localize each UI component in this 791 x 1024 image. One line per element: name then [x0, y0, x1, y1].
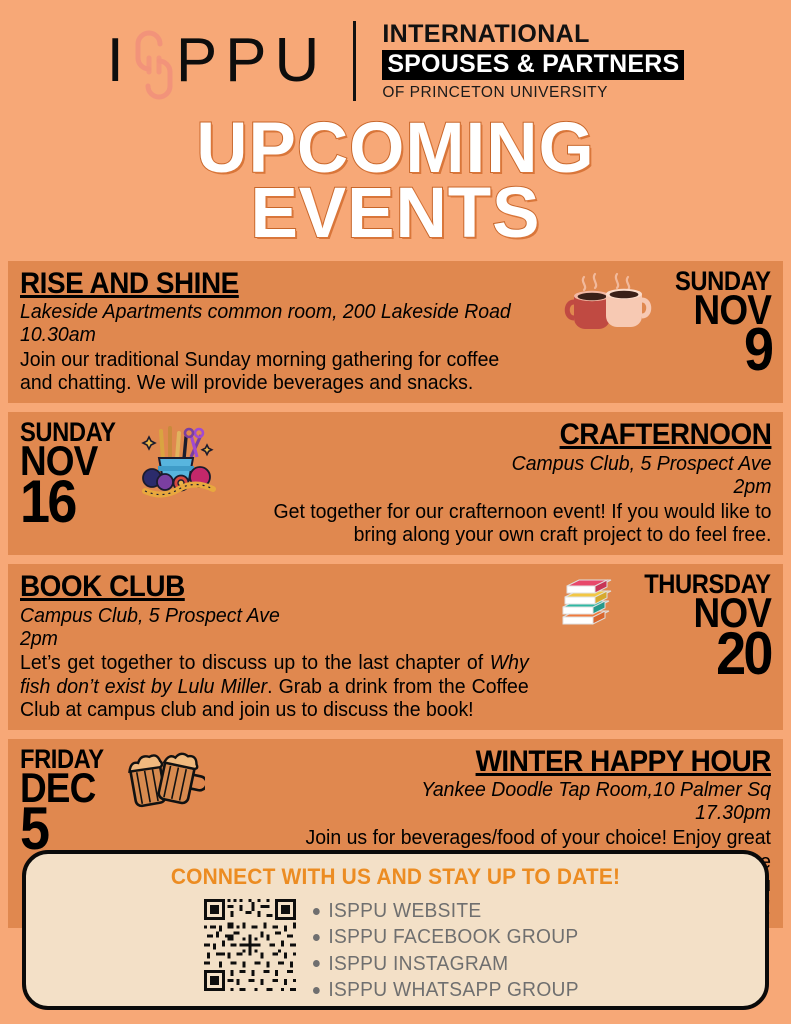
link-item-instagram[interactable]: ISPPU INSTAGRAM: [313, 951, 579, 977]
craft-supplies-icon: [139, 425, 219, 499]
bullet-icon: [313, 908, 320, 915]
event-title: RISE AND SHINE: [20, 268, 524, 300]
event-title: BOOK CLUB: [20, 571, 518, 603]
link-item-website[interactable]: ISPPU WEBSITE: [313, 898, 579, 924]
logo-divider: [353, 21, 356, 101]
logo-letter-i: I: [107, 30, 132, 92]
bullet-icon: [313, 960, 320, 967]
poster-header: I PPU INTERNATIONAL SPOUSES & PARTNERS O…: [0, 0, 791, 108]
event-location: Yankee Doodle Tap Room,10 Palmer Sq: [233, 779, 771, 802]
bullet-icon: [313, 934, 320, 941]
event-date-block: SUNDAY NOV 9: [662, 268, 771, 375]
link-item-facebook[interactable]: ISPPU FACEBOOK GROUP: [313, 924, 579, 950]
event-location: Campus Club, 5 Prospect Ave: [20, 605, 529, 628]
link-label: ISPPU INSTAGRAM: [328, 951, 508, 977]
event-day-number: 16: [20, 477, 75, 526]
event-description-pre: Let’s get together to discuss up to the …: [20, 651, 490, 674]
event-card-book-club[interactable]: BOOK CLUB Campus Club, 5 Prospect Ave 2p…: [8, 564, 783, 730]
isppu-logo-wordmark: I PPU: [107, 28, 328, 94]
org-name-block: INTERNATIONAL SPOUSES & PARTNERS OF PRIN…: [382, 22, 684, 101]
event-description: Get together for our crafternoon event! …: [246, 500, 771, 546]
event-time: 17.30pm: [233, 802, 771, 825]
page-title: UPCOMING EVENTS: [0, 116, 791, 247]
link-label: ISPPU WEBSITE: [328, 898, 481, 924]
event-location: Campus Club, 5 Prospect Ave: [246, 453, 771, 476]
event-text-block: BOOK CLUB Campus Club, 5 Prospect Ave 2p…: [20, 571, 555, 721]
connect-heading: CONNECT WITH US AND STAY UP TO DATE!: [58, 864, 733, 890]
coffee-cups-icon: [562, 272, 654, 334]
event-text-block: RISE AND SHINE Lakeside Apartments commo…: [20, 268, 562, 395]
connect-links-list: ISPPU WEBSITE ISPPU FACEBOOK GROUP ISPPU…: [313, 896, 590, 1004]
event-time: 10.30am: [20, 324, 535, 347]
event-description: Join our traditional Sunday morning gath…: [20, 348, 535, 394]
beer-mugs-icon: [121, 750, 205, 812]
event-card-crafternoon[interactable]: SUNDAY NOV 16: [8, 412, 783, 555]
book-stack-icon: [555, 573, 621, 631]
org-line-international: INTERNATIONAL: [382, 22, 684, 47]
page-title-line2: EVENTS: [0, 181, 791, 246]
event-time: 2pm: [20, 628, 529, 651]
bullet-icon: [313, 987, 320, 994]
chain-link-s-icon: [132, 28, 176, 94]
event-title: CRAFTERNOON: [257, 419, 771, 451]
event-location: Lakeside Apartments common room, 200 Lak…: [20, 301, 535, 324]
event-day-number: 5: [20, 804, 47, 853]
event-day-number: 20: [716, 629, 771, 678]
event-date-block: THURSDAY NOV 20: [627, 571, 771, 678]
org-line-spouses-partners: SPOUSES & PARTNERS: [382, 50, 684, 80]
event-card-rise-and-shine[interactable]: RISE AND SHINE Lakeside Apartments commo…: [8, 261, 783, 404]
link-label: ISPPU WHATSAPP GROUP: [328, 977, 578, 1003]
org-line-princeton: OF PRINCETON UNIVERSITY: [382, 85, 684, 101]
event-title: WINTER HAPPY HOUR: [245, 746, 771, 778]
event-date-block: SUNDAY NOV 16: [20, 419, 129, 526]
link-item-whatsapp[interactable]: ISPPU WHATSAPP GROUP: [313, 977, 579, 1003]
connect-card: CONNECT WITH US AND STAY UP TO DATE!: [22, 850, 769, 1010]
event-description: Let’s get together to discuss up to the …: [20, 651, 529, 720]
event-text-block: CRAFTERNOON Campus Club, 5 Prospect Ave …: [219, 419, 771, 546]
events-list: RISE AND SHINE Lakeside Apartments commo…: [0, 261, 791, 928]
page-title-line1: UPCOMING: [0, 116, 791, 181]
link-label: ISPPU FACEBOOK GROUP: [328, 924, 578, 950]
event-time: 2pm: [246, 476, 771, 499]
qr-code[interactable]: [201, 896, 299, 994]
event-day-number: 9: [744, 325, 771, 374]
logo-letters-ppu: PPU: [176, 30, 327, 92]
event-date-block: FRIDAY DEC 5: [20, 746, 115, 853]
